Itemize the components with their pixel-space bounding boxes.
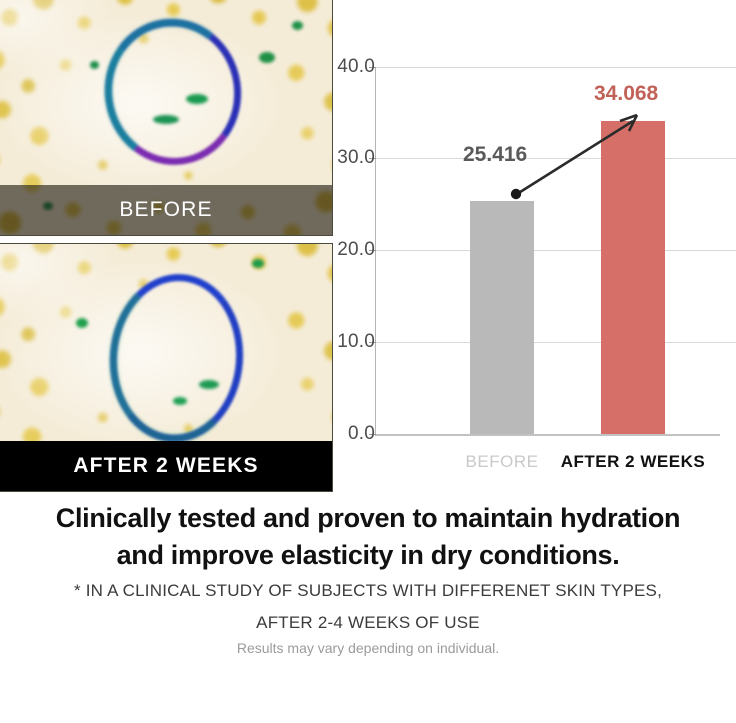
microscopy-image-group: BEFORE AFTER 2 WEEKS xyxy=(0,0,335,492)
ytick-label-30: 30.0 xyxy=(317,147,375,169)
y-axis-line xyxy=(375,67,376,435)
bar-after xyxy=(601,121,665,434)
study-footnote: * IN A CLINICAL STUDY OF SUBJECTS WITH D… xyxy=(0,575,736,640)
ytick-label-0: 0.0 xyxy=(317,423,375,445)
results-disclaimer: Results may vary depending on individual… xyxy=(0,640,736,656)
headline-line-1: Clinically tested and proven to maintain… xyxy=(8,500,728,537)
elasticity-bar-chart: 40.0 30.0 20.0 10.0 0.0 25.416 34.068 BE… xyxy=(345,0,736,500)
before-image-panel: BEFORE xyxy=(0,0,333,236)
xtick-label-after: AFTER 2 WEEKS xyxy=(551,452,715,472)
ytick-label-40: 40.0 xyxy=(317,56,375,78)
study-footnote-line-1: * IN A CLINICAL STUDY OF SUBJECTS WITH D… xyxy=(0,575,736,608)
gridline-10 xyxy=(375,342,736,343)
xtick-label-before: BEFORE xyxy=(452,452,552,472)
gridline-30 xyxy=(375,158,736,159)
gridline-20 xyxy=(375,250,736,251)
after-image-panel: AFTER 2 WEEKS xyxy=(0,243,333,492)
gridline-40 xyxy=(375,67,736,68)
marketing-copy-block: Clinically tested and proven to maintain… xyxy=(0,500,736,723)
bar-value-before: 25.416 xyxy=(463,143,527,167)
x-axis-baseline xyxy=(375,434,720,436)
green-fleck xyxy=(90,61,99,69)
study-footnote-line-2: AFTER 2-4 WEEKS OF USE xyxy=(0,607,736,640)
ytick-label-10: 10.0 xyxy=(317,331,375,353)
comparison-section: BEFORE AFTER 2 WEEKS 40.0 30.0 xyxy=(0,0,736,500)
headline-line-2: and improve elasticity in dry conditions… xyxy=(8,537,728,574)
bar-value-after: 34.068 xyxy=(594,82,658,106)
after-caption: AFTER 2 WEEKS xyxy=(0,441,332,491)
green-fleck xyxy=(252,259,264,268)
green-fleck xyxy=(259,52,275,63)
ytick-label-20: 20.0 xyxy=(317,239,375,261)
before-caption: BEFORE xyxy=(0,185,332,235)
headline: Clinically tested and proven to maintain… xyxy=(0,500,736,575)
y-axis-tick-labels: 40.0 30.0 20.0 10.0 0.0 xyxy=(307,0,375,368)
bar-before xyxy=(470,201,534,434)
